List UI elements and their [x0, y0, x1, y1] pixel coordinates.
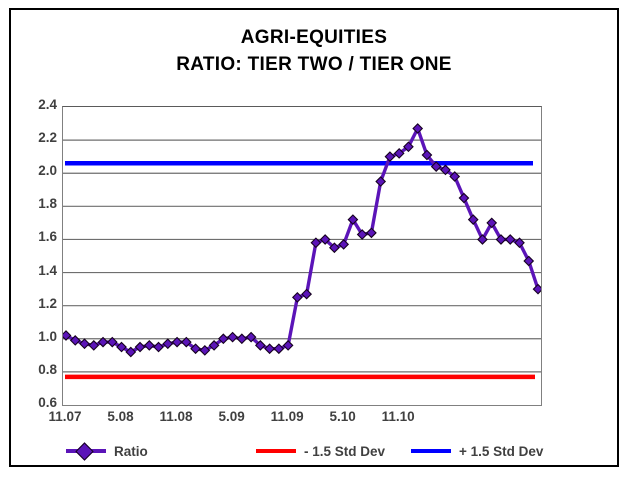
- x-axis-tick-label: 11.10: [368, 409, 428, 424]
- y-axis-tick-label: 1.2: [17, 296, 57, 311]
- plot-area: [62, 106, 542, 406]
- y-axis-tick-label: 2.4: [17, 97, 57, 112]
- legend-item-label: + 1.5 Std Dev: [459, 444, 543, 459]
- legend-item-label: - 1.5 Std Dev: [304, 444, 385, 459]
- legend-swatch-line-icon: [411, 449, 451, 453]
- y-axis-tick-label: 1.8: [17, 196, 57, 211]
- legend-swatch-diamond-icon: [66, 445, 106, 457]
- x-axis-labels: 11.075.0811.085.0911.095.1011.10: [11, 409, 617, 431]
- legend-item-1-5-std-dev[interactable]: - 1.5 Std Dev: [256, 441, 385, 461]
- y-axis-tick-label: 0.8: [17, 362, 57, 377]
- x-axis-tick-label: 11.09: [257, 409, 317, 424]
- chart-frame: AGRI-EQUITIES RATIO: TIER TWO / TIER ONE…: [9, 8, 619, 467]
- x-axis-tick-label: 11.08: [146, 409, 206, 424]
- y-axis-tick-label: 2.2: [17, 130, 57, 145]
- y-axis-tick-label: 0.6: [17, 395, 57, 410]
- chart-canvas: [63, 107, 541, 405]
- legend-item-1-5-std-dev[interactable]: + 1.5 Std Dev: [411, 441, 543, 461]
- legend-item-ratio[interactable]: Ratio: [66, 441, 148, 461]
- x-axis-tick-label: 5.08: [91, 409, 151, 424]
- x-axis-tick-label: 5.10: [313, 409, 373, 424]
- x-axis-tick-label: 5.09: [202, 409, 262, 424]
- y-axis-tick-label: 1.6: [17, 229, 57, 244]
- legend-item-label: Ratio: [114, 444, 148, 459]
- chart-legend: Ratio- 1.5 Std Dev+ 1.5 Std Dev: [11, 441, 617, 465]
- legend-swatch-line-icon: [256, 449, 296, 453]
- plot-wrapper: 2.42.22.01.81.61.41.21.00.80.6 11.075.08…: [11, 10, 617, 465]
- y-axis-tick-label: 1.0: [17, 329, 57, 344]
- y-axis-tick-label: 1.4: [17, 263, 57, 278]
- x-axis-tick-label: 11.07: [35, 409, 95, 424]
- y-axis-tick-label: 2.0: [17, 163, 57, 178]
